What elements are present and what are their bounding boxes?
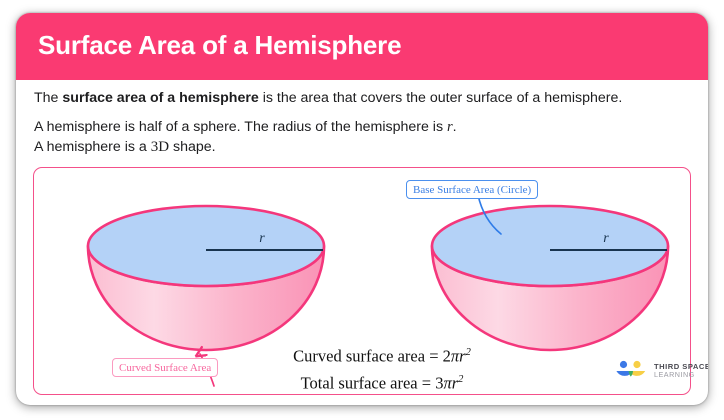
hemisphere-right-radius-label: r <box>603 231 609 246</box>
card-header-banner: Surface Area of a Hemisphere <box>16 13 708 80</box>
formula-curved-pi: π <box>451 347 459 366</box>
formula-total-pi: π <box>443 373 451 392</box>
definition-bold-term: surface area of a hemisphere <box>62 90 258 106</box>
formula-total-exponent: 2 <box>458 374 463 385</box>
hemisphere-left-base-circle <box>88 206 324 286</box>
shape-dimension: 3D <box>151 139 169 155</box>
radius-prefix: A hemisphere is half of a sphere. The ra… <box>34 119 447 135</box>
hemisphere-right-base-circle <box>432 206 668 286</box>
lesson-body-text: The surface area of a hemisphere is the … <box>34 88 694 157</box>
page-title: Surface Area of a Hemisphere <box>38 30 401 61</box>
third-space-learning-mark-icon <box>614 359 648 383</box>
logo-line-2: LEARNING <box>654 371 708 378</box>
formula-curved-surface-area: Curved surface area = 2πr2 <box>252 341 512 368</box>
shape-prefix: A hemisphere is a <box>34 139 151 155</box>
radius-suffix: . <box>453 119 457 135</box>
callout-base-surface-area: Base Surface Area (Circle) <box>406 180 538 199</box>
callout-curved-surface-area: Curved Surface Area <box>112 358 218 377</box>
definition-prefix: The <box>34 90 62 106</box>
shape-suffix: shape. <box>169 139 216 155</box>
formula-block: Curved surface area = 2πr2 Total surface… <box>252 341 512 394</box>
formula-curved-equals: = <box>429 347 438 366</box>
definition-paragraph: The surface area of a hemisphere is the … <box>34 88 694 108</box>
radius-paragraph: A hemisphere is half of a sphere. The ra… <box>34 117 694 137</box>
formula-curved-label: Curved surface area <box>293 347 425 366</box>
shape-paragraph: A hemisphere is a 3D shape. <box>34 137 694 157</box>
lesson-card: Surface Area of a Hemisphere The surface… <box>16 13 708 405</box>
formula-total-surface-area: Total surface area = 3πr2 <box>252 368 512 395</box>
formula-total-equals: = <box>422 373 431 392</box>
definition-suffix: is the area that covers the outer surfac… <box>259 90 623 106</box>
formula-curved-exponent: 2 <box>466 347 471 358</box>
brand-logo: THIRD SPACE LEARNING <box>614 356 708 386</box>
page-root: Surface Area of a Hemisphere The surface… <box>0 0 724 420</box>
diagram-container: r r Curved Surface Area Base Surface Are… <box>33 167 691 395</box>
hemisphere-right-group: r <box>432 195 668 350</box>
hemisphere-left-radius-label: r <box>259 231 265 246</box>
logo-wordmark: THIRD SPACE LEARNING <box>654 363 708 378</box>
formula-total-label: Total surface area <box>301 373 418 392</box>
formula-curved-coefficient: 2 <box>443 347 451 366</box>
